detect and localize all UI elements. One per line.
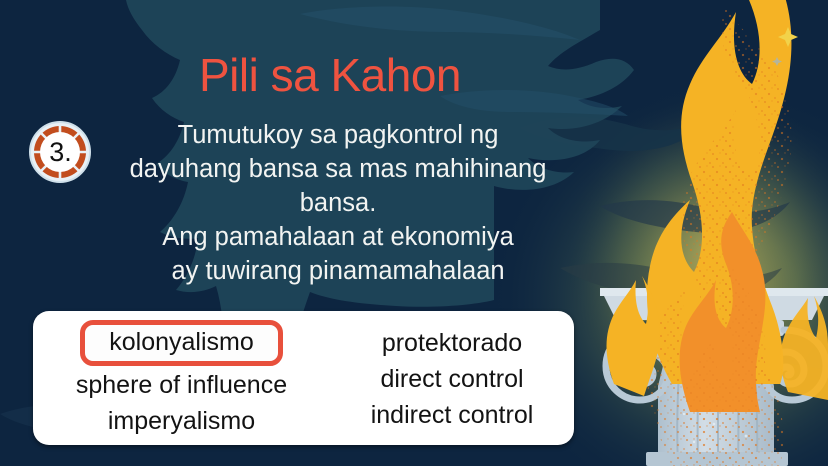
prompt-line-1: Tumutukoy sa pagkontrol ng: [62, 118, 614, 152]
prompt-line-4: Ang pamahalaan at ekonomiya: [62, 220, 614, 254]
prompt-text: Tumutukoy sa pagkontrol ng dayuhang bans…: [62, 118, 614, 288]
answer-option-indirect-control[interactable]: indirect control: [371, 397, 534, 433]
page-title: Pili sa Kahon: [60, 52, 600, 98]
answer-box: kolonyalismo sphere of influence imperya…: [33, 311, 574, 445]
prompt-line-5: ay tuwirang pinamamahalaan: [62, 254, 614, 288]
flame: [600, 0, 828, 466]
sparkle-star: [772, 27, 798, 66]
answer-option-direct-control[interactable]: direct control: [380, 361, 523, 397]
prompt-line-2: dayuhang bansa sa mas mahihinang: [62, 152, 614, 186]
answer-option-imperyalismo[interactable]: imperyalismo: [108, 403, 255, 439]
slide-canvas: Pili sa Kahon 3. Tumutukoy sa pagkontrol…: [0, 0, 828, 466]
answer-option-protektorado[interactable]: protektorado: [382, 325, 522, 361]
answer-option-sphere-of-influence[interactable]: sphere of influence: [76, 367, 287, 403]
answer-column-right: protektorado direct control indirect con…: [330, 311, 574, 445]
prompt-line-3: bansa.: [62, 186, 614, 220]
answer-column-left: kolonyalismo sphere of influence imperya…: [33, 311, 330, 445]
answer-option-kolonyalismo[interactable]: kolonyalismo: [80, 320, 283, 366]
